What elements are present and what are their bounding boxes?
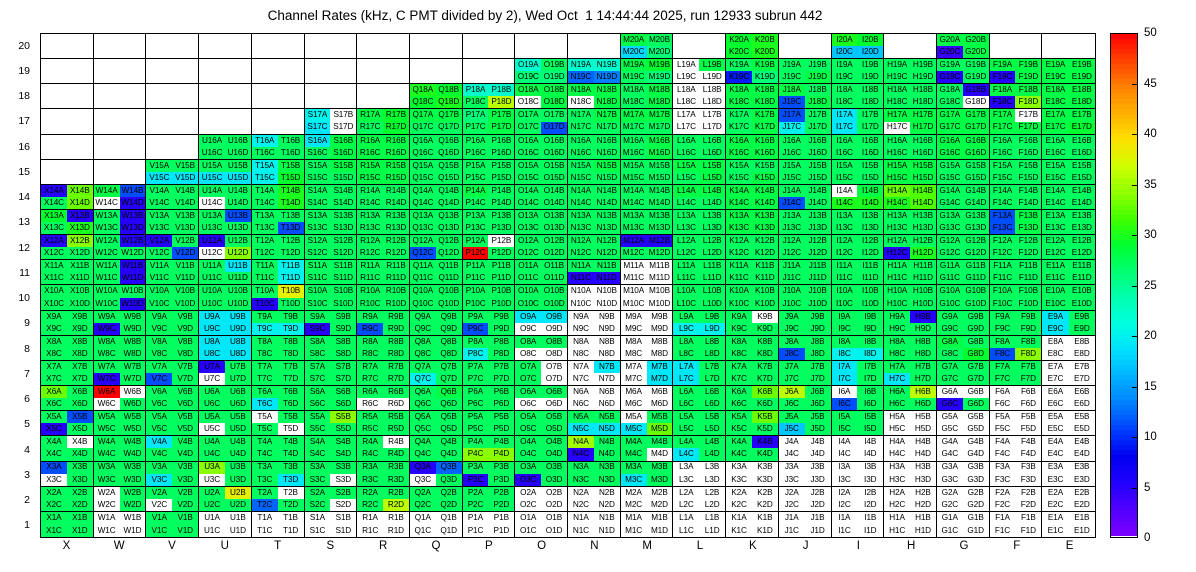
channel-O2D: O2D [541, 499, 567, 511]
channel-X2A: X2A [41, 487, 67, 499]
channel-J20C [779, 46, 805, 58]
channel-M14D: M14D [647, 197, 673, 209]
channel-R17B: R17B [383, 109, 409, 121]
channel-Q5C: Q5C [410, 423, 436, 435]
channel-R11A: R11A [357, 260, 383, 272]
channel-W6D: W6D [120, 398, 146, 410]
heatmap-cell-V18 [146, 84, 199, 109]
channel-X17C [41, 122, 67, 134]
heatmap-cell-L2: L2AL2BL2CL2D [673, 487, 726, 512]
channel-O7D: O7D [541, 373, 567, 385]
heatmap-cell-K10: K10AK10BK10CK10D [726, 285, 779, 310]
channel-M13A: M13A [621, 210, 647, 222]
heatmap-cell-T7: T7AT7BT7CT7D [252, 361, 305, 386]
channel-I7C: I7C [832, 373, 858, 385]
channel-F14A: F14A [990, 185, 1016, 197]
channel-G2D: G2D [963, 499, 989, 511]
channel-V12D: V12D [172, 247, 198, 259]
channel-N2B: N2B [594, 487, 620, 499]
channel-J4B: J4B [805, 436, 831, 448]
colorbar-tickmark [1132, 437, 1138, 438]
channel-M1A: M1A [621, 512, 647, 525]
channel-X11C: X11C [41, 272, 67, 284]
channel-O3B: O3B [541, 462, 567, 474]
channel-S9C: S9C [305, 323, 331, 335]
heatmap-cell-S7: S7AS7BS7CS7D [305, 361, 358, 386]
channel-S1D: S1D [330, 524, 356, 537]
y-tick-17: 17 [0, 115, 30, 127]
channel-R13D: R13D [383, 222, 409, 234]
channel-G8D: G8D [963, 348, 989, 360]
channel-N18C: N18C [568, 96, 594, 108]
channel-R4A: R4A [357, 436, 383, 448]
heatmap-cell-K11: K11AK11BK11CK11D [726, 260, 779, 285]
y-tick-4: 4 [0, 444, 30, 456]
heatmap-cell-G3: G3AG3BG3CG3D [937, 462, 990, 487]
channel-F3B: F3B [1015, 462, 1041, 474]
channel-K3D: K3D [752, 474, 778, 486]
heatmap-cell-V19 [146, 59, 199, 84]
heatmap-cell-P7: P7AP7BP7CP7D [463, 361, 516, 386]
channel-S10B: S10B [330, 285, 356, 297]
channel-E10C: E10C [1042, 298, 1068, 310]
channel-E2D: E2D [1069, 499, 1095, 511]
channel-Q1B: Q1B [436, 512, 462, 525]
channel-K6A: K6A [726, 386, 752, 398]
channel-U2C: U2C [199, 499, 225, 511]
heatmap-cell-L10: L10AL10BL10CL10D [673, 285, 726, 310]
channel-U16B: U16B [225, 135, 251, 147]
channel-I15B: I15B [857, 160, 883, 172]
channel-N15B: N15B [594, 160, 620, 172]
channel-J2C: J2C [779, 499, 805, 511]
channel-S20A [305, 34, 331, 46]
heatmap-cell-O15: O15AO15BO15CO15D [515, 160, 568, 185]
channel-U16D: U16D [225, 147, 251, 159]
channel-T13D: T13D [278, 222, 304, 234]
heatmap-cell-R8: R8AR8BR8CR8D [357, 336, 410, 361]
channel-R17A: R17A [357, 109, 383, 121]
x-tick-H: H [885, 540, 938, 562]
channel-R12C: R12C [357, 247, 383, 259]
channel-E1D: E1D [1069, 524, 1095, 537]
channel-K7D: K7D [752, 373, 778, 385]
heatmap-cell-S6: S6AS6BS6CS6D [305, 386, 358, 411]
channel-R18C [357, 96, 383, 108]
channel-O12A: O12A [515, 235, 541, 247]
colorbar-tickmark [1132, 235, 1138, 236]
channel-O2A: O2A [515, 487, 541, 499]
heatmap-cell-P4: P4AP4BP4CP4D [463, 436, 516, 461]
channel-G10A: G10A [937, 285, 963, 297]
channel-V12A: V12A [146, 235, 172, 247]
channel-S10A: S10A [305, 285, 331, 297]
channel-N4D: N4D [594, 448, 620, 460]
heatmap-cell-R17: R17AR17BR17CR17D [357, 109, 410, 134]
channel-X17A [41, 109, 67, 121]
channel-G7C: G7C [937, 373, 963, 385]
channel-K20B: K20B [752, 34, 778, 46]
channel-T18C [252, 96, 278, 108]
channel-N17C: N17C [568, 122, 594, 134]
channel-K7B: K7B [752, 361, 778, 373]
y-tick-9: 9 [0, 317, 30, 329]
heatmap-cell-I4: I4AI4BI4CI4D [832, 436, 885, 461]
channel-P5C: P5C [463, 423, 489, 435]
channel-E14A: E14A [1042, 185, 1068, 197]
channel-O7A: O7A [515, 361, 541, 373]
channel-V11C: V11C [146, 272, 172, 284]
channel-Q14C: Q14C [410, 197, 436, 209]
channel-F5A: F5A [990, 411, 1016, 423]
channel-L10B: L10B [699, 285, 725, 297]
channel-Q9A: Q9A [410, 311, 436, 323]
channel-E5C: E5C [1042, 423, 1068, 435]
channel-F6B: F6B [1015, 386, 1041, 398]
heatmap-cell-N14: N14AN14BN14CN14D [568, 185, 621, 210]
heatmap-cell-P9: P9AP9BP9CP9D [463, 311, 516, 336]
heatmap-cell-R19 [357, 59, 410, 84]
heatmap-cell-M9: M9AM9BM9CM9D [621, 311, 674, 336]
heatmap-cell-G5: G5AG5BG5CG5D [937, 411, 990, 436]
channel-T20C [252, 46, 278, 58]
channel-G6C: G6C [937, 398, 963, 410]
heatmap-cell-X9: X9AX9BX9CX9D [41, 311, 94, 336]
channel-K18C: K18C [726, 96, 752, 108]
channel-M8A: M8A [621, 336, 647, 348]
channel-R8D: R8D [383, 348, 409, 360]
channel-F11A: F11A [990, 260, 1016, 272]
channel-N3A: N3A [568, 462, 594, 474]
heatmap-cell-N18: N18AN18BN18CN18D [568, 84, 621, 109]
channel-L2A: L2A [673, 487, 699, 499]
channel-T18B [278, 84, 304, 96]
channel-T1A: T1A [252, 512, 278, 525]
channel-P10A: P10A [463, 285, 489, 297]
channel-Q16D: Q16D [436, 147, 462, 159]
channel-N10D: N10D [594, 298, 620, 310]
heatmap-cell-E4: E4AE4BE4CE4D [1042, 436, 1095, 461]
heatmap-cell-M8: M8AM8BM8CM8D [621, 336, 674, 361]
channel-V13B: V13B [172, 210, 198, 222]
channel-L8B: L8B [699, 336, 725, 348]
channel-U6A: U6A [199, 386, 225, 398]
channel-J18D: J18D [805, 96, 831, 108]
heatmap-cell-J17: J17AJ17BJ17CJ17D [779, 109, 832, 134]
channel-V20A [146, 34, 172, 46]
channel-F8D: F8D [1015, 348, 1041, 360]
heatmap-cell-R20 [357, 34, 410, 59]
channel-W3D: W3D [120, 474, 146, 486]
heatmap-cell-E18: E18AE18BE18CE18D [1042, 84, 1095, 109]
channel-K2D: K2D [752, 499, 778, 511]
channel-L13C: L13C [673, 222, 699, 234]
channel-W17B [120, 109, 146, 121]
channel-E11C: E11C [1042, 272, 1068, 284]
heatmap-cell-R10: R10AR10BR10CR10D [357, 285, 410, 310]
channel-X5A: X5A [41, 411, 67, 423]
channel-I16B: I16B [857, 135, 883, 147]
channel-O4B: O4B [541, 436, 567, 448]
channel-X19C [41, 71, 67, 83]
channel-J4A: J4A [779, 436, 805, 448]
channel-G17A: G17A [937, 109, 963, 121]
channel-X14D: X14D [67, 197, 93, 209]
channel-R19B [383, 59, 409, 71]
channel-R1A: R1A [357, 512, 383, 525]
channel-K14B: K14B [752, 185, 778, 197]
channel-I3C: I3C [832, 474, 858, 486]
channel-E6A: E6A [1042, 386, 1068, 398]
heatmap-cell-X8: X8AX8BX8CX8D [41, 336, 94, 361]
channel-E12A: E12A [1042, 235, 1068, 247]
channel-E8A: E8A [1042, 336, 1068, 348]
channel-H19C: H19C [884, 71, 910, 83]
heatmap-cell-S2: S2AS2BS2CS2D [305, 487, 358, 512]
heatmap-cell-J6: J6AJ6BJ6CJ6D [779, 386, 832, 411]
channel-F20C [990, 46, 1016, 58]
heatmap-cell-M5: M5AM5BM5CM5D [621, 411, 674, 436]
channel-O16C: O16C [515, 147, 541, 159]
channel-N9C: N9C [568, 323, 594, 335]
channel-W10C: W10C [94, 298, 120, 310]
channel-U14B: U14B [225, 185, 251, 197]
channel-U14D: U14D [225, 197, 251, 209]
channel-L20B [699, 34, 725, 46]
channel-J18A: J18A [779, 84, 805, 96]
channel-R13A: R13A [357, 210, 383, 222]
x-tick-E: E [1043, 540, 1096, 562]
channel-V10C: V10C [146, 298, 172, 310]
channel-Q3C: Q3C [410, 474, 436, 486]
channel-O14B: O14B [541, 185, 567, 197]
channel-O2B: O2B [541, 487, 567, 499]
channel-T19A [252, 59, 278, 71]
channel-N17D: N17D [594, 122, 620, 134]
channel-N16D: N16D [594, 147, 620, 159]
x-tick-J: J [779, 540, 832, 562]
channel-N20A [568, 34, 594, 46]
heatmap-cell-Q11: Q11AQ11BQ11CQ11D [410, 260, 463, 285]
channel-O15D: O15D [541, 172, 567, 184]
channel-L14C: L14C [673, 197, 699, 209]
heatmap-cell-N5: N5AN5BN5CN5D [568, 411, 621, 436]
heatmap-cell-O13: O13AO13BO13CO13D [515, 210, 568, 235]
y-tick-13: 13 [0, 216, 30, 228]
channel-F19A: F19A [990, 59, 1016, 71]
heatmap-cell-J3: J3AJ3BJ3CJ3D [779, 462, 832, 487]
channel-G14A: G14A [937, 185, 963, 197]
channel-O20D [541, 46, 567, 58]
channel-F8B: F8B [1015, 336, 1041, 348]
channel-Q2A: Q2A [410, 487, 436, 499]
channel-V6B: V6B [172, 386, 198, 398]
channel-O1A: O1A [515, 512, 541, 525]
channel-T15D: T15D [278, 172, 304, 184]
channel-U17A [199, 109, 225, 121]
channel-L14B: L14B [699, 185, 725, 197]
channel-U19C [199, 71, 225, 83]
heatmap-cell-F1: F1AF1BF1CF1D [990, 512, 1043, 537]
heatmap-cell-M4: M4AM4BM4CM4D [621, 436, 674, 461]
channel-G19A: G19A [937, 59, 963, 71]
heatmap-cell-G17: G17AG17BG17CG17D [937, 109, 990, 134]
channel-V4C: V4C [146, 448, 172, 460]
heatmap-cell-G12: G12AG12BG12CG12D [937, 235, 990, 260]
channel-W15A [94, 160, 120, 172]
channel-V17D [172, 122, 198, 134]
colorbar-tick-15: 15 [1138, 381, 1157, 393]
channel-T14A: T14A [252, 185, 278, 197]
channel-T11D: T11D [278, 272, 304, 284]
heatmap-cell-P16: P16AP16BP16CP16D [463, 135, 516, 160]
heatmap-cell-G14: G14AG14BG14CG14D [937, 185, 990, 210]
channel-I6A: I6A [832, 386, 858, 398]
channel-H20C [884, 46, 910, 58]
channel-E13D: E13D [1069, 222, 1095, 234]
channel-I12C: I12C [832, 247, 858, 259]
channel-N12C: N12C [568, 247, 594, 259]
channel-H12C: H12C [884, 247, 910, 259]
channel-W14D: W14D [120, 197, 146, 209]
channel-F18C: F18C [990, 96, 1016, 108]
channel-N4C: N4C [568, 448, 594, 460]
channel-E17B: E17B [1069, 109, 1095, 121]
heatmap-cell-J16: J16AJ16BJ16CJ16D [779, 135, 832, 160]
channel-F16A: F16A [990, 135, 1016, 147]
heatmap-cell-V1: V1AV1BV1CV1D [146, 512, 199, 537]
channel-Q20A [410, 34, 436, 46]
channel-V14B: V14B [172, 185, 198, 197]
channel-N13D: N13D [594, 222, 620, 234]
channel-T4C: T4C [252, 448, 278, 460]
heatmap-cell-M10: M10AM10BM10CM10D [621, 285, 674, 310]
heatmap-cell-I10: I10AI10BI10CI10D [832, 285, 885, 310]
colorbar-band [1111, 531, 1137, 536]
channel-G8C: G8C [937, 348, 963, 360]
channel-I17D: I17D [857, 122, 883, 134]
channel-J1B: J1B [805, 512, 831, 525]
channel-V4D: V4D [172, 448, 198, 460]
channel-P12C: P12C [463, 247, 489, 259]
channel-U9C: U9C [199, 323, 225, 335]
heatmap-cell-U4: U4AU4BU4CU4D [199, 436, 252, 461]
channel-Q8C: Q8C [410, 348, 436, 360]
channel-R3A: R3A [357, 462, 383, 474]
heatmap-cell-N16: N16AN16BN16CN16D [568, 135, 621, 160]
channel-E18B: E18B [1069, 84, 1095, 96]
channel-X12A: X12A [41, 235, 67, 247]
channel-K14D: K14D [752, 197, 778, 209]
channel-M1B: M1B [647, 512, 673, 525]
heatmap-cell-H2: H2AH2BH2CH2D [884, 487, 937, 512]
channel-M2A: M2A [621, 487, 647, 499]
channel-G12A: G12A [937, 235, 963, 247]
heatmap-cell-E6: E6AE6BE6CE6D [1042, 386, 1095, 411]
channel-S12D: S12D [330, 247, 356, 259]
channel-H13A: H13A [884, 210, 910, 222]
channel-P6B: P6B [488, 386, 514, 398]
x-tick-S: S [304, 540, 357, 562]
channel-R5A: R5A [357, 411, 383, 423]
channel-X16D [67, 147, 93, 159]
channel-U4D: U4D [225, 448, 251, 460]
channel-Q7C: Q7C [410, 373, 436, 385]
channel-P4C: P4C [463, 448, 489, 460]
heatmap-cell-F11: F11AF11BF11CF11D [990, 260, 1043, 285]
channel-M20B: M20B [647, 34, 673, 46]
channel-I13C: I13C [832, 222, 858, 234]
channel-S9A: S9A [305, 311, 331, 323]
channel-R9A: R9A [357, 311, 383, 323]
channel-X15D [67, 172, 93, 184]
channel-F17D: F17D [1015, 122, 1041, 134]
channel-O14A: O14A [515, 185, 541, 197]
channel-O16D: O16D [541, 147, 567, 159]
channel-O10D: O10D [541, 298, 567, 310]
heatmap-cell-H6: H6AH6BH6CH6D [884, 386, 937, 411]
channel-J6A: J6A [779, 386, 805, 398]
channel-N10C: N10C [568, 298, 594, 310]
channel-M4C: M4C [621, 448, 647, 460]
channel-X8A: X8A [41, 336, 67, 348]
channel-F15D: F15D [1015, 172, 1041, 184]
channel-P9C: P9C [463, 323, 489, 335]
channel-J17A: J17A [779, 109, 805, 121]
channel-N11C: N11C [568, 272, 594, 284]
channel-K9D: K9D [752, 323, 778, 335]
heatmap-cell-H11: H11AH11BH11CH11D [884, 260, 937, 285]
channel-T6D: T6D [278, 398, 304, 410]
channel-H10D: H10D [910, 298, 936, 310]
channel-V2A: V2A [146, 487, 172, 499]
channel-E7A: E7A [1042, 361, 1068, 373]
channel-X9D: X9D [67, 323, 93, 335]
channel-V7B: V7B [172, 361, 198, 373]
channel-F6A: F6A [990, 386, 1016, 398]
channel-T1D: T1D [278, 524, 304, 537]
channel-T5C: T5C [252, 423, 278, 435]
colorbar-tick-5: 5 [1138, 482, 1150, 494]
y-tick-2: 2 [0, 494, 30, 506]
heatmap-cell-W10: W10AW10BW10CW10D [94, 285, 147, 310]
channel-W19B [120, 59, 146, 71]
channel-O11B: O11B [541, 260, 567, 272]
channel-S4B: S4B [330, 436, 356, 448]
heatmap-cell-Q13: Q13AQ13BQ13CQ13D [410, 210, 463, 235]
channel-O13A: O13A [515, 210, 541, 222]
channel-F2C: F2C [990, 499, 1016, 511]
channel-U11C: U11C [199, 272, 225, 284]
channel-W5C: W5C [94, 423, 120, 435]
channel-J19A: J19A [779, 59, 805, 71]
channel-X6A: X6A [41, 386, 67, 398]
channel-J7D: J7D [805, 373, 831, 385]
channel-P5D: P5D [488, 423, 514, 435]
channel-X5D: X5D [67, 423, 93, 435]
y-tick-19: 19 [0, 65, 30, 77]
channel-M2B: M2B [647, 487, 673, 499]
channel-O18D: O18D [541, 96, 567, 108]
x-tick-O: O [515, 540, 568, 562]
channel-N12D: N12D [594, 247, 620, 259]
channel-G13B: G13B [963, 210, 989, 222]
channel-E1A: E1A [1042, 512, 1068, 525]
channel-P10D: P10D [488, 298, 514, 310]
channel-M13B: M13B [647, 210, 673, 222]
channel-V4B: V4B [172, 436, 198, 448]
channel-W3A: W3A [94, 462, 120, 474]
